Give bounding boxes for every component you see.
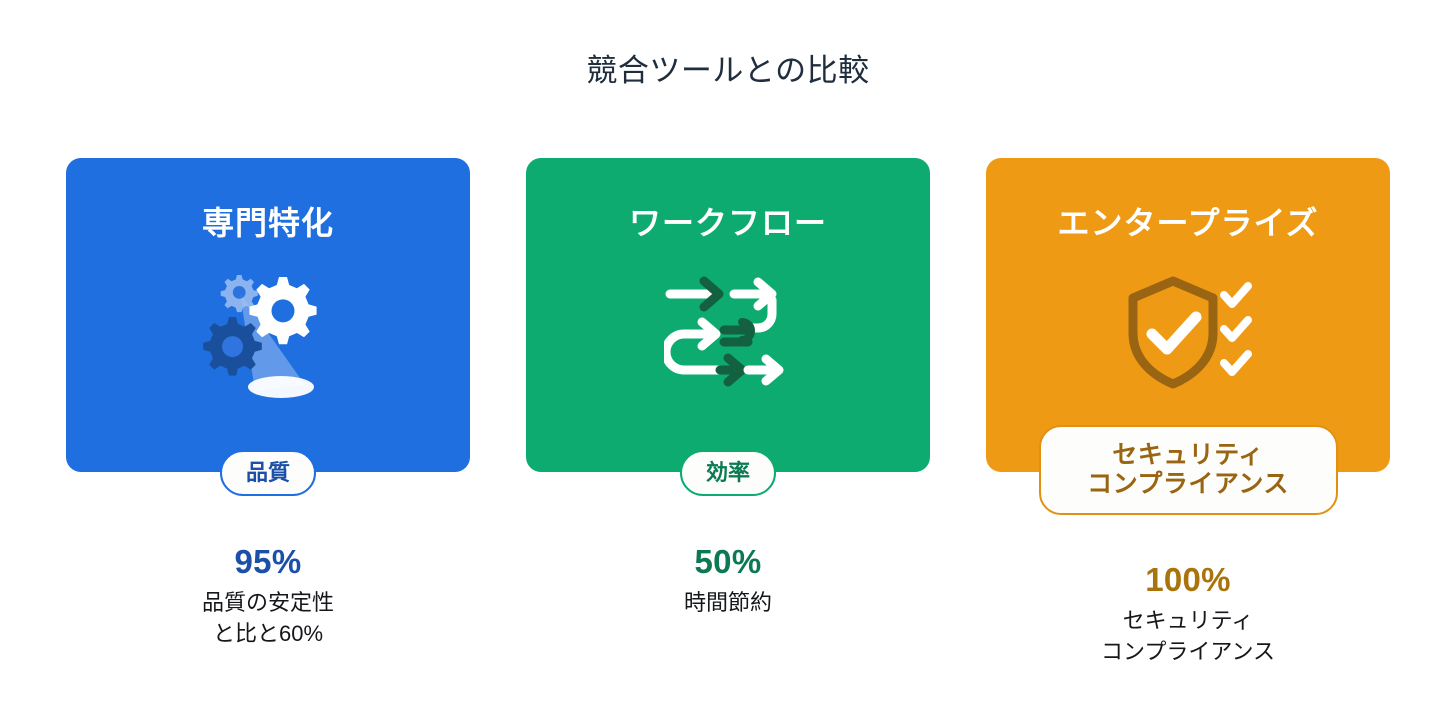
card-workflow[interactable]: ワークフロー	[526, 158, 930, 472]
card-enterprise[interactable]: エンタープライズ セキュリティ コンプライアンス	[986, 158, 1390, 472]
badge-efficiency: 効率	[680, 450, 776, 496]
card-title-specialization: 専門特化	[202, 206, 334, 241]
shield-checklist-icon	[986, 258, 1390, 408]
cards-row: 専門特化	[66, 158, 1390, 667]
badge-quality: 品質	[220, 450, 316, 496]
stat-value-enterprise: 100%	[986, 562, 1390, 598]
card-column-enterprise: エンタープライズ セキュリティ コンプライアンス	[986, 158, 1390, 667]
stats-specialization: 95% 品質の安定性 と比と60%	[66, 544, 470, 649]
stats-workflow: 50% 時間節約	[526, 544, 930, 619]
workflow-arrows-icon	[526, 258, 930, 408]
badge-security-compliance: セキュリティ コンプライアンス	[1039, 425, 1338, 515]
stats-enterprise: 100% セキュリティ コンプライアンス	[986, 562, 1390, 667]
stat-label-enterprise: セキュリティ コンプライアンス	[986, 606, 1390, 667]
stat-label-specialization: 品質の安定性 と比と60%	[66, 588, 470, 649]
gears-spotlight-icon	[66, 258, 470, 408]
card-specialization[interactable]: 専門特化	[66, 158, 470, 472]
page-title: 競合ツールとの比較	[0, 52, 1456, 89]
stat-label-workflow: 時間節約	[526, 588, 930, 618]
card-title-enterprise: エンタープライズ	[1057, 206, 1318, 241]
comparison-infographic: 競合ツールとの比較 専門特化	[0, 0, 1456, 720]
stat-value-specialization: 95%	[66, 544, 470, 580]
stat-value-workflow: 50%	[526, 544, 930, 580]
card-column-workflow: ワークフロー	[526, 158, 930, 667]
card-title-workflow: ワークフロー	[629, 206, 827, 241]
card-column-specialization: 専門特化	[66, 158, 470, 667]
